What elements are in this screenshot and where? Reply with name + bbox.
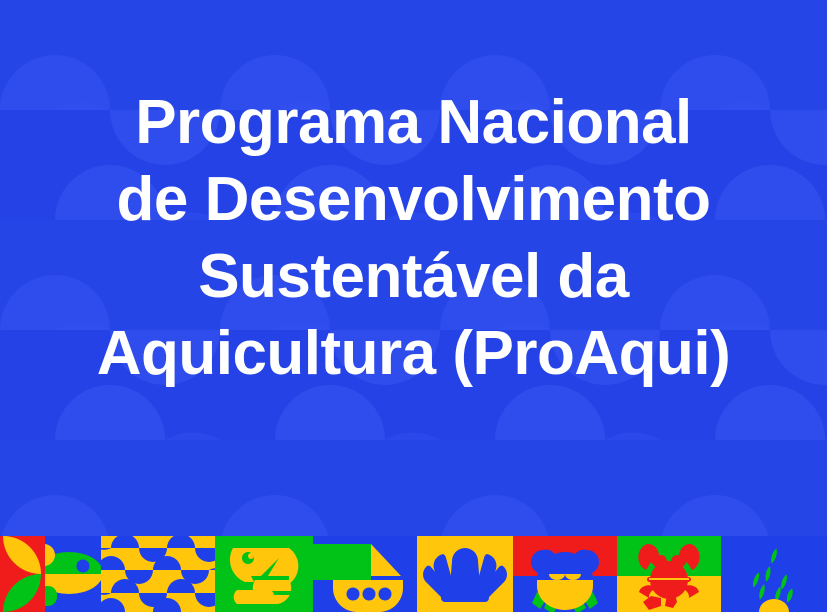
tile-scallop-shell: [417, 536, 513, 612]
tile-crab: [513, 536, 617, 612]
tile-fish: [45, 536, 101, 612]
tile-waves: [101, 536, 215, 612]
title-line-4: Aquicultura (ProAqui): [97, 315, 731, 392]
title-line-2: de Desenvolvimento: [117, 161, 711, 238]
icon-strip: [0, 536, 827, 612]
tile-seaweed: [721, 536, 827, 612]
title-line-3: Sustentável da: [198, 238, 629, 315]
tile-shrimp: [215, 536, 313, 612]
banner-page: Programa Nacional de Desenvolvimento Sus…: [0, 0, 827, 612]
tile-lobster: [617, 536, 721, 612]
tile-boat: [313, 536, 417, 612]
title-line-1: Programa Nacional: [135, 84, 692, 161]
page-title: Programa Nacional de Desenvolvimento Sus…: [0, 0, 827, 536]
tile-leaf: [0, 536, 45, 612]
